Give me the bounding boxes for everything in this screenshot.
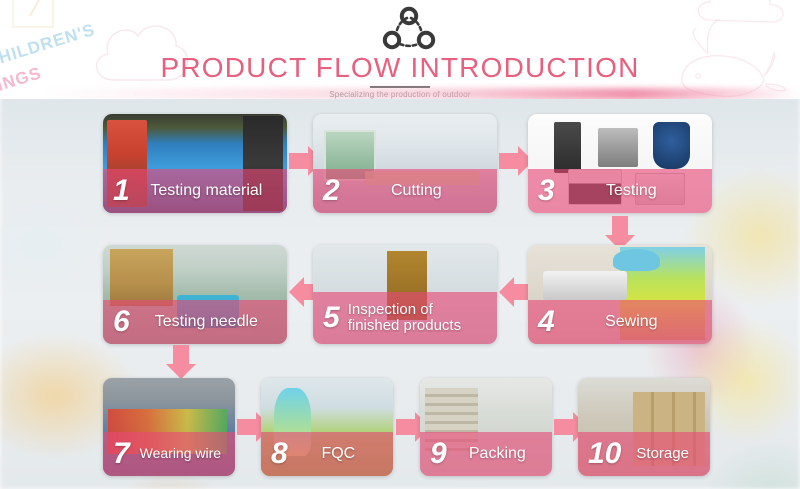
flow-step-label: Inspection of finished products: [344, 302, 497, 334]
flow-step-label-band: 4 Sewing: [528, 300, 712, 344]
flow-step-label-band: 7 Wearing wire: [103, 432, 235, 476]
flow-step-number: 9: [420, 439, 451, 469]
flow-step-card-4[interactable]: 4 Sewing: [528, 245, 712, 344]
flow-step-number: 6: [103, 307, 134, 337]
flow-step-card-8[interactable]: 8 FQC: [261, 378, 393, 476]
flow-step-number: 4: [528, 307, 559, 337]
page-title: PRODUCT FLOW INTRODUCTION: [0, 52, 800, 84]
flow-step-number: 3: [528, 176, 559, 206]
flow-step-label: Cutting: [344, 182, 497, 199]
flow-step-label: Testing: [559, 182, 712, 199]
flow-step-label: Packing: [451, 445, 552, 462]
flow-step-number: 7: [103, 439, 134, 469]
arrow-6-to-7: [166, 345, 196, 379]
header-banner: CHILDREN'S WINGS PRODUCT FLOW INTRODUCTI…: [0, 0, 800, 99]
flow-step-label-band: 1 Testing material: [103, 169, 287, 213]
square-doodle-icon: [10, 0, 56, 34]
flow-step-number: 10: [578, 439, 623, 469]
flow-step-label-band: 10 Storage: [578, 432, 710, 476]
flow-step-label: Sewing: [559, 313, 712, 330]
flow-step-card-1[interactable]: 1 Testing material: [103, 114, 287, 213]
network-share-icon: [380, 6, 438, 52]
product-flow-infographic: CHILDREN'S WINGS PRODUCT FLOW INTRODUCTI…: [0, 0, 800, 489]
header-gradient-strip: [40, 88, 800, 99]
flow-step-label-band: 9 Packing: [420, 432, 552, 476]
flow-step-number: 1: [103, 176, 134, 206]
flow-step-card-10[interactable]: 10 Storage: [578, 378, 710, 476]
flow-step-label-band: 3 Testing: [528, 169, 712, 213]
flow-step-card-6[interactable]: 6 Testing needle: [103, 245, 287, 344]
flow-step-label: FQC: [292, 445, 393, 462]
flow-step-label-band: 5 Inspection of finished products: [313, 292, 497, 344]
cloud-doodle-icon-right: [690, 0, 800, 32]
flow-step-label-band: 8 FQC: [261, 432, 393, 476]
flow-step-number: 8: [261, 439, 292, 469]
flow-step-label-band: 6 Testing needle: [103, 300, 287, 344]
flow-step-number: 5: [313, 303, 344, 333]
flow-step-label: Wearing wire: [134, 446, 235, 461]
flow-step-label-line2: finished products: [348, 317, 461, 334]
flow-step-card-9[interactable]: 9 Packing: [420, 378, 552, 476]
flow-step-card-7[interactable]: 7 Wearing wire: [103, 378, 235, 476]
flow-step-number: 2: [313, 176, 344, 206]
flow-step-card-2[interactable]: 2 Cutting: [313, 114, 497, 213]
flow-step-label-band: 2 Cutting: [313, 169, 497, 213]
flow-step-label: Testing material: [134, 182, 287, 199]
flow-step-label: Storage: [623, 446, 710, 462]
flow-step-label: Testing needle: [134, 313, 287, 330]
flow-step-label-line1: Inspection of: [348, 301, 433, 318]
flow-step-card-5[interactable]: 5 Inspection of finished products: [313, 245, 497, 344]
flow-step-card-3[interactable]: 3 Testing: [528, 114, 712, 213]
